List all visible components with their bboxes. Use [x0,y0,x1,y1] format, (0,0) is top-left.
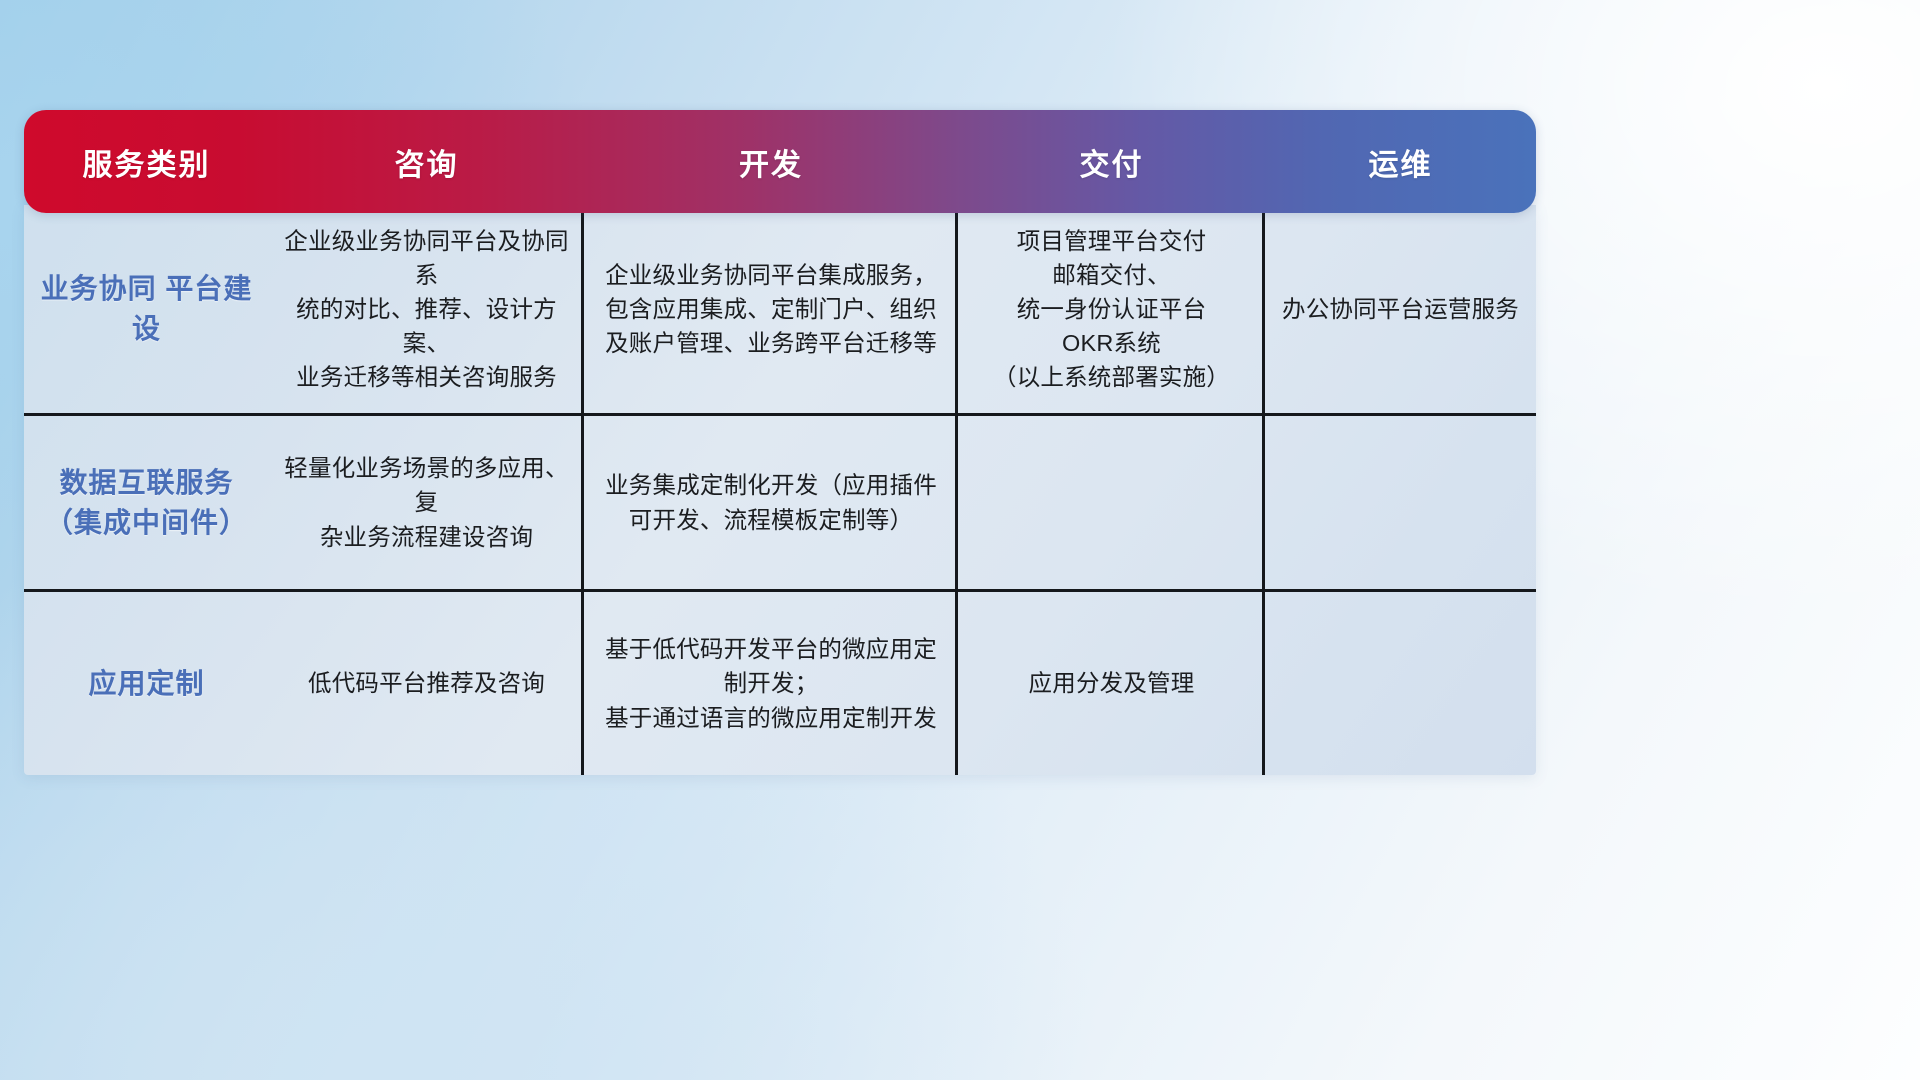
cell-operations-text: 办公协同平台运营服务 [1282,292,1519,326]
cell-development: 业务集成定制化开发（应用插件 可开发、流程模板定制等） [584,416,958,589]
cell-development: 基于低代码开发平台的微应用定 制开发； 基于通过语言的微应用定制开发 [584,592,958,775]
row-label-cell: 业务协同 平台建设 [24,205,269,413]
column-header-delivery: 交付 [958,110,1265,213]
cell-development-text: 基于低代码开发平台的微应用定 制开发； 基于通过语言的微应用定制开发 [605,632,937,734]
column-header-category: 服务类别 [24,110,269,213]
cell-delivery: 项目管理平台交付 邮箱交付、 统一身份认证平台 OKR系统 （以上系统部署实施） [958,205,1265,413]
cell-consulting: 企业级业务协同平台及协同系 统的对比、推荐、设计方案、 业务迁移等相关咨询服务 [269,205,584,413]
cell-operations [1265,592,1536,775]
cell-consulting: 轻量化业务场景的多应用、复 杂业务流程建设咨询 [269,416,584,589]
cell-development-text: 企业级业务协同平台集成服务， 包含应用集成、定制门户、组织 及账户管理、业务跨平… [605,258,937,360]
cell-consulting-text: 企业级业务协同平台及协同系 统的对比、推荐、设计方案、 业务迁移等相关咨询服务 [283,224,570,394]
table-row: 应用定制 低代码平台推荐及咨询 基于低代码开发平台的微应用定 制开发； 基于通过… [24,592,1536,775]
cell-consulting-text: 低代码平台推荐及咨询 [308,666,545,700]
row-label-text: 应用定制 [88,664,204,704]
cell-delivery-text: 应用分发及管理 [1029,666,1195,700]
row-label-cell: 数据互联服务 （集成中间件） [24,416,269,589]
column-header-delivery-label: 交付 [1080,140,1144,184]
table-row: 数据互联服务 （集成中间件） 轻量化业务场景的多应用、复 杂业务流程建设咨询 业… [24,416,1536,592]
cell-delivery-text: 项目管理平台交付 邮箱交付、 统一身份认证平台 OKR系统 （以上系统部署实施） [993,224,1230,394]
slide-canvas: 服务类别 咨询 开发 交付 运维 业务协同 平台建设 [0,0,1920,1080]
service-matrix-table: 服务类别 咨询 开发 交付 运维 业务协同 平台建设 [24,110,1536,775]
table-header-row: 服务类别 咨询 开发 交付 运维 [24,110,1536,213]
table-body: 业务协同 平台建设 企业级业务协同平台及协同系 统的对比、推荐、设计方案、 业务… [24,205,1536,775]
cell-operations [1265,416,1536,589]
row-label-cell: 应用定制 [24,592,269,775]
cell-delivery [958,416,1265,589]
cell-development: 企业级业务协同平台集成服务， 包含应用集成、定制门户、组织 及账户管理、业务跨平… [584,205,958,413]
row-label-text: 业务协同 平台建设 [38,269,255,349]
column-header-operations: 运维 [1265,110,1536,213]
cell-operations: 办公协同平台运营服务 [1265,205,1536,413]
row-label-text: 数据互联服务 （集成中间件） [38,463,255,543]
table-row: 业务协同 平台建设 企业级业务协同平台及协同系 统的对比、推荐、设计方案、 业务… [24,205,1536,416]
cell-consulting-text: 轻量化业务场景的多应用、复 杂业务流程建设咨询 [283,451,570,553]
column-header-consulting-label: 咨询 [395,140,459,184]
column-header-development-label: 开发 [739,140,803,184]
column-header-category-label: 服务类别 [83,140,211,184]
cell-delivery: 应用分发及管理 [958,592,1265,775]
column-header-operations-label: 运维 [1369,140,1433,184]
column-header-development: 开发 [584,110,958,213]
cell-consulting: 低代码平台推荐及咨询 [269,592,584,775]
cell-development-text: 业务集成定制化开发（应用插件 可开发、流程模板定制等） [605,468,937,536]
column-header-consulting: 咨询 [269,110,584,213]
